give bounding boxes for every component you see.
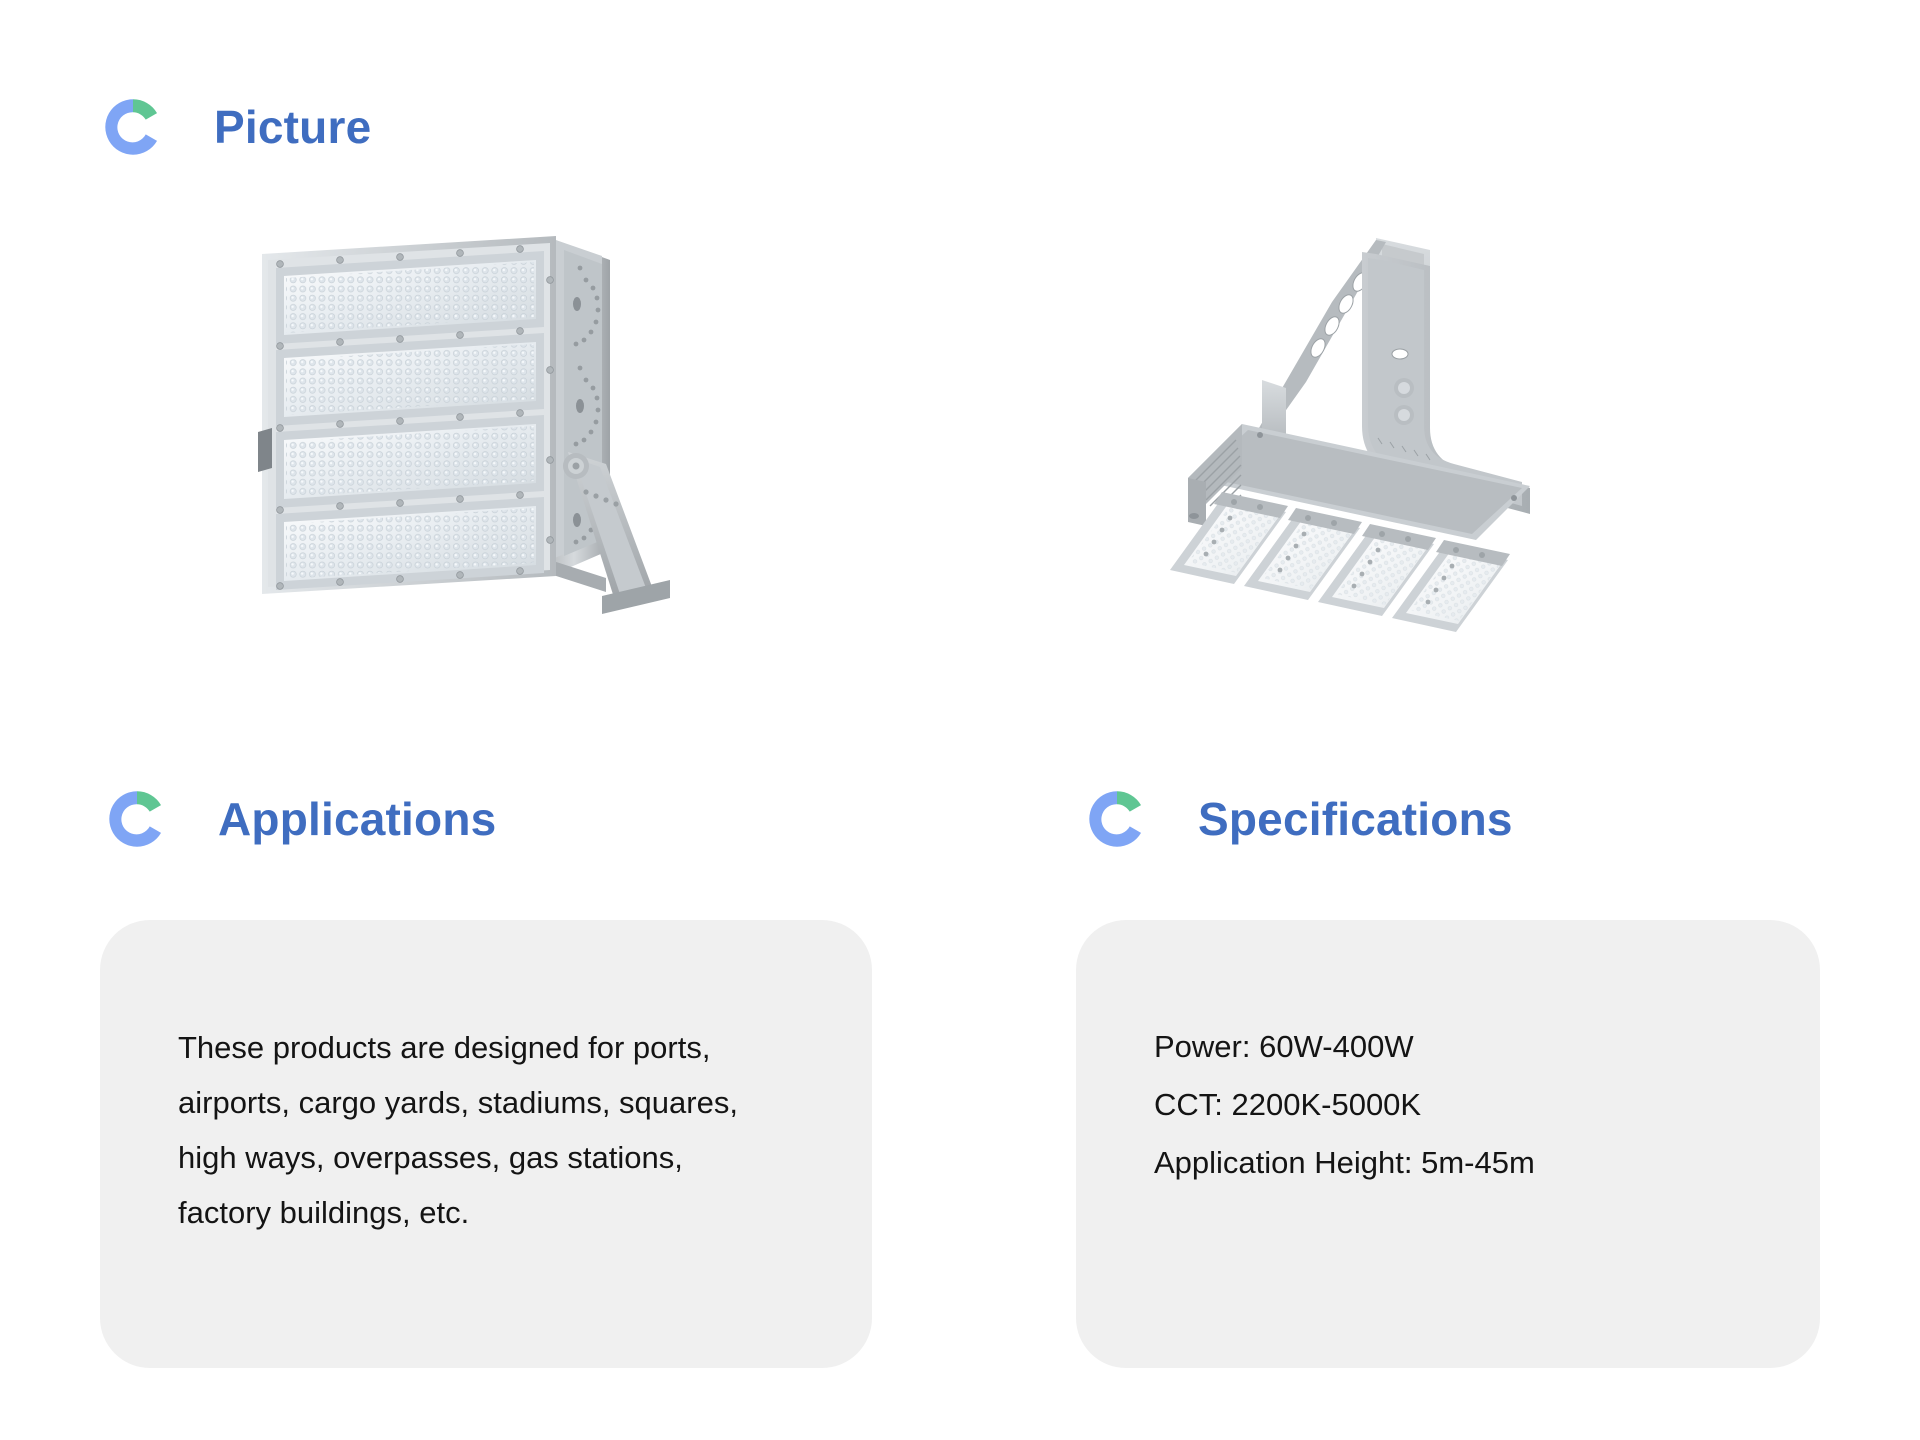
applications-text-block: These products are designed for ports, a… (178, 1020, 818, 1240)
section-title: Specifications (1198, 796, 1513, 842)
specifications-text-block: Power: 60W-400W CCT: 2200K-5000K Applica… (1154, 1018, 1774, 1192)
applications-line: factory buildings, etc. (178, 1185, 818, 1240)
section-heading-specifications: Specifications (1084, 786, 1513, 852)
c-ring-icon (104, 786, 170, 852)
product-datasheet-page: Picture (0, 0, 1920, 1440)
section-heading-picture: Picture (100, 94, 371, 160)
specifications-card: Power: 60W-400W CCT: 2200K-5000K Applica… (1076, 920, 1820, 1368)
spec-line-cct: CCT: 2200K-5000K (1154, 1076, 1774, 1134)
applications-line: These products are designed for ports, (178, 1020, 818, 1075)
spec-line-power: Power: 60W-400W (1154, 1018, 1774, 1076)
led-flood-light-bracket-render (1110, 230, 1610, 650)
c-ring-icon (100, 94, 166, 160)
applications-line: high ways, overpasses, gas stations, (178, 1130, 818, 1185)
section-title: Picture (214, 104, 371, 150)
applications-line: airports, cargo yards, stadiums, squares… (178, 1075, 818, 1130)
led-flood-light-angled-photo (250, 220, 730, 680)
section-title: Applications (218, 796, 496, 842)
section-heading-applications: Applications (104, 786, 496, 852)
spec-line-application-height: Application Height: 5m-45m (1154, 1134, 1774, 1192)
applications-card: These products are designed for ports, a… (100, 920, 872, 1368)
c-ring-icon (1084, 786, 1150, 852)
